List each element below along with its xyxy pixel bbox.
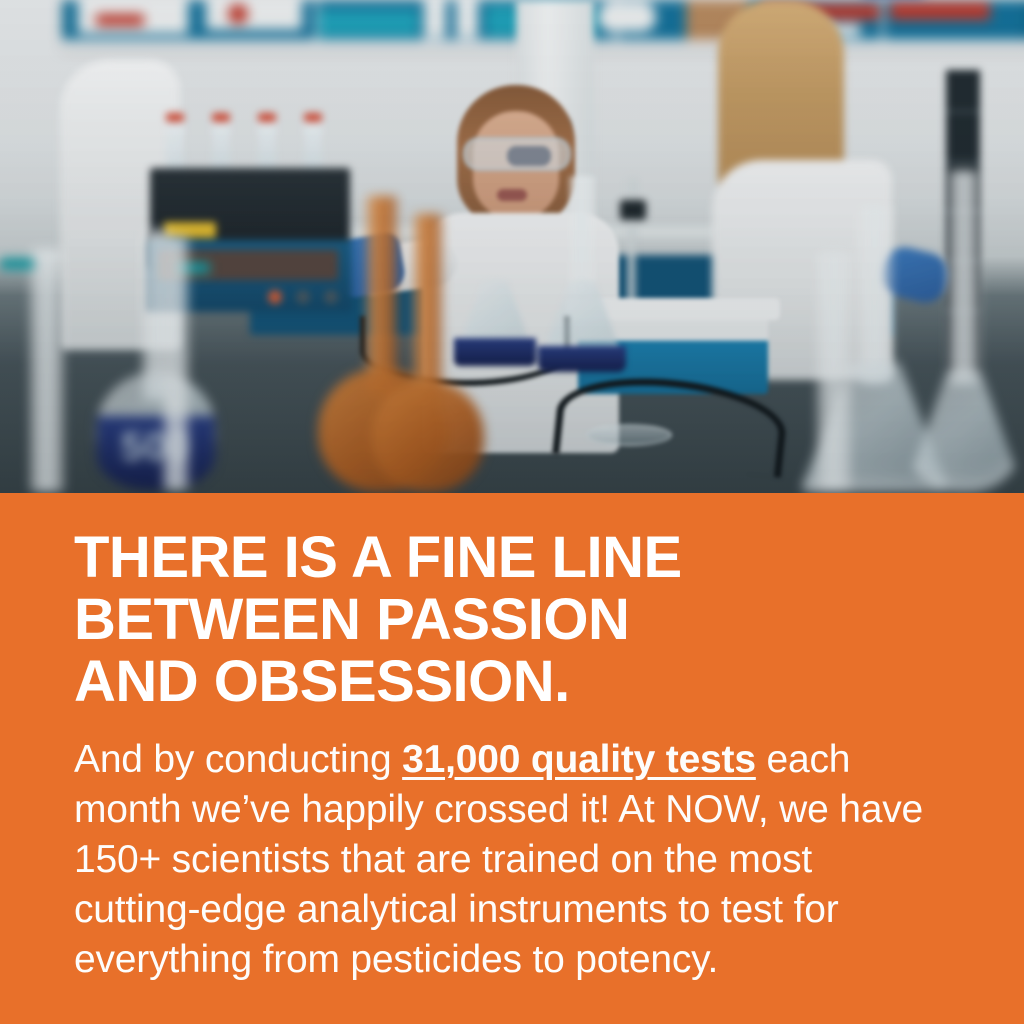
social-graphic-canvas: 500 [0,0,1024,1024]
page-title: THERE IS A FINE LINE BETWEEN PASSION AND… [74,527,954,713]
pipette-cap-teal-1 [0,258,34,270]
center-flask-neck [569,176,595,296]
headline-line-2: BETWEEN PASSION [74,589,954,651]
safety-goggles-icon [463,137,571,171]
pipette-tube [163,236,189,490]
amber-flask-body-2 [372,380,484,492]
glass-column-tube [817,252,851,492]
test-tube-1 [166,120,184,174]
erlenmeyer-flask-right-2 [904,170,1024,492]
cabinet-box-label-1 [96,14,144,26]
test-tube-rack [160,118,340,174]
body-text-before: And by conducting [74,738,402,781]
center-flask-liquid [538,346,626,372]
cylinder-tube [30,248,64,492]
held-flask-liquid [454,338,536,366]
headline-line-1: THERE IS A FINE LINE [74,527,954,589]
body-emphasis-quality-tests: 31,000 quality tests [402,738,756,781]
mouth [497,189,527,201]
test-tube-2 [212,120,230,174]
test-tube-3 [258,120,276,174]
cabinet-bottle-1 [598,2,656,32]
flask-neck-right-2 [948,170,980,384]
graduated-cylinder-left [14,248,80,492]
glass-column-right [786,252,882,492]
cabinet-box-2 [206,0,302,30]
instrument-knob-1 [268,290,282,304]
petri-dish [586,424,672,446]
cabinet-cylinder-2 [456,0,478,38]
erlenmeyer-flask-held [452,244,538,366]
cabinet-red-items-2 [890,2,990,20]
cabinet-teal-tray-1 [318,10,418,36]
erlenmeyer-flask-center [536,176,628,372]
pipette-center-left [148,236,204,490]
laboratory-photo: 500 [0,0,1024,493]
body-paragraph: And by conducting 31,000 quality tests e… [74,735,946,985]
cabinet-cylinder-1 [424,0,446,38]
test-tube-4 [304,120,322,174]
instrument-knob-2 [296,290,310,304]
flask-body-right-2 [904,372,1024,492]
headline-line-3: AND OBSESSION. [74,651,954,713]
orange-text-panel: THERE IS A FINE LINE BETWEEN PASSION AND… [0,493,1024,1024]
amber-flask-neck-2 [414,214,442,402]
cabinet-bottle-cap-1 [228,4,248,24]
